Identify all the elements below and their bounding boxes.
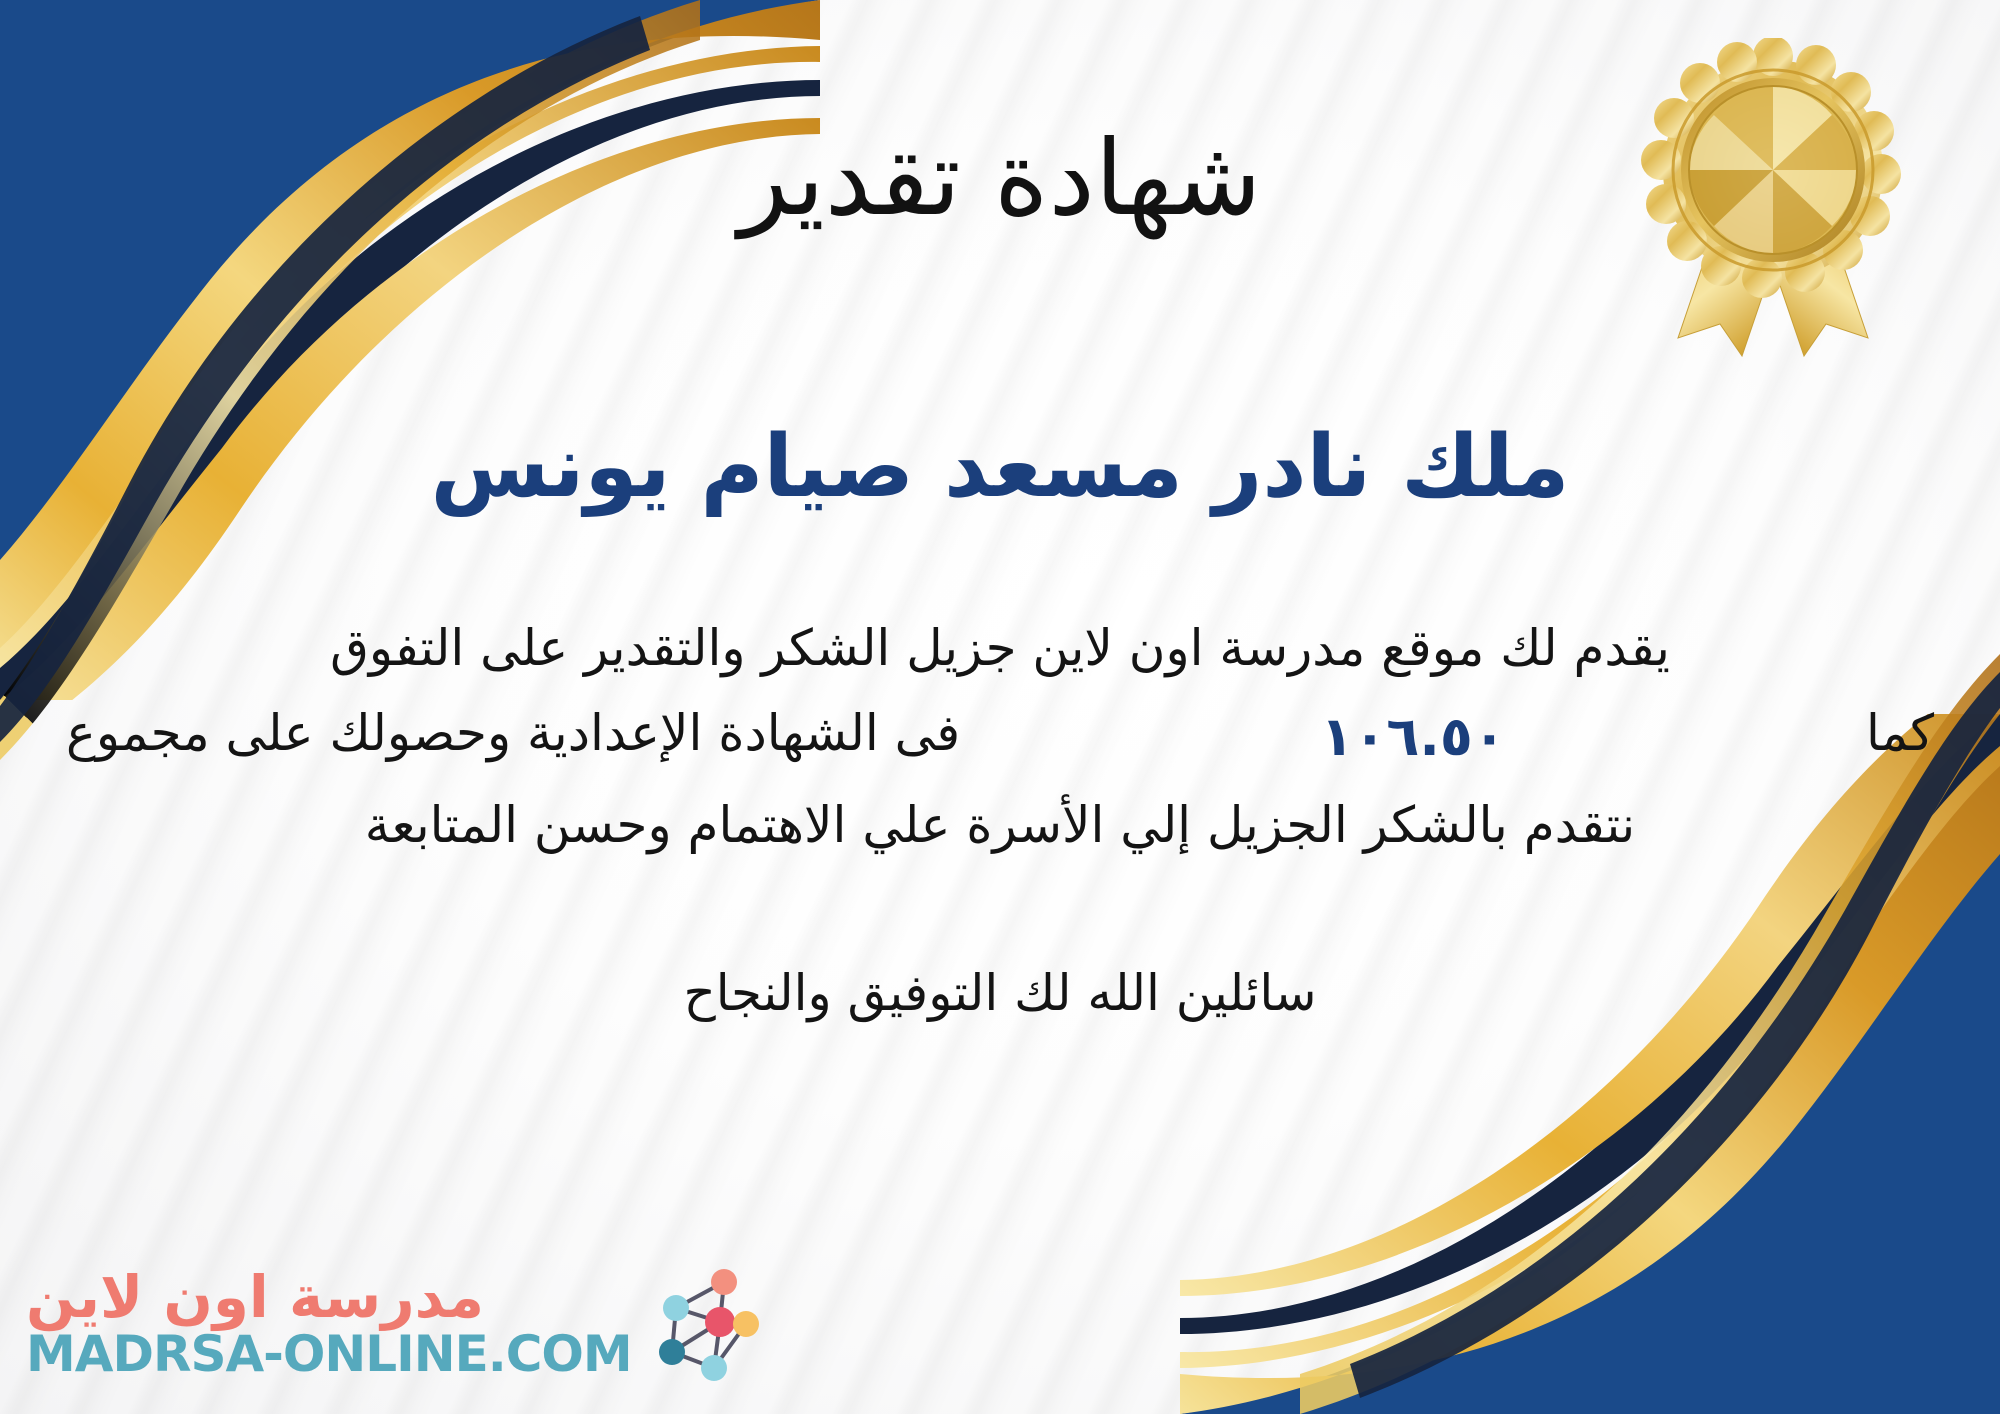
gold-award-seal-icon [1638, 38, 1908, 368]
certificate-title: شهادة تقدير [738, 124, 1261, 233]
body-line-2-trailing-word: كما [1866, 691, 1934, 783]
brand-arabic-name: مدرسة اون لاين [26, 1267, 484, 1328]
body-line-3: نتقدم بالشكر الجزيل إلي الأسرة علي الاهت… [60, 783, 1940, 868]
body-line-1: يقدم لك موقع مدرسة اون لاين جزيل الشكر و… [60, 606, 1940, 691]
brand-logo-text: مدرسة اون لاين MADRSA-ONLINE.COM [26, 1267, 632, 1380]
network-nodes-logo-icon [642, 1260, 762, 1388]
closing-wish-line: سائلين الله لك التوفيق والنجاح [683, 964, 1316, 1022]
brand-website-url: MADRSA-ONLINE.COM [26, 1328, 632, 1381]
body-line-2-leading-text: فى الشهادة الإعدادية وحصولك على مجموع [66, 691, 960, 783]
total-score-value: ١٠٦.٥٠ [1294, 691, 1531, 783]
brand-logo[interactable]: مدرسة اون لاين MADRSA-ONLINE.COM [26, 1260, 762, 1388]
recipient-name: ملك نادر مسعد صيام يونس [431, 421, 1570, 514]
body-line-2: كما ١٠٦.٥٠ فى الشهادة الإعدادية وحصولك ع… [60, 691, 1940, 783]
certificate-canvas: شهادة تقدير ملك نادر مسعد صيام يونس يقدم… [0, 0, 2000, 1414]
certificate-body: يقدم لك موقع مدرسة اون لاين جزيل الشكر و… [60, 606, 1940, 868]
